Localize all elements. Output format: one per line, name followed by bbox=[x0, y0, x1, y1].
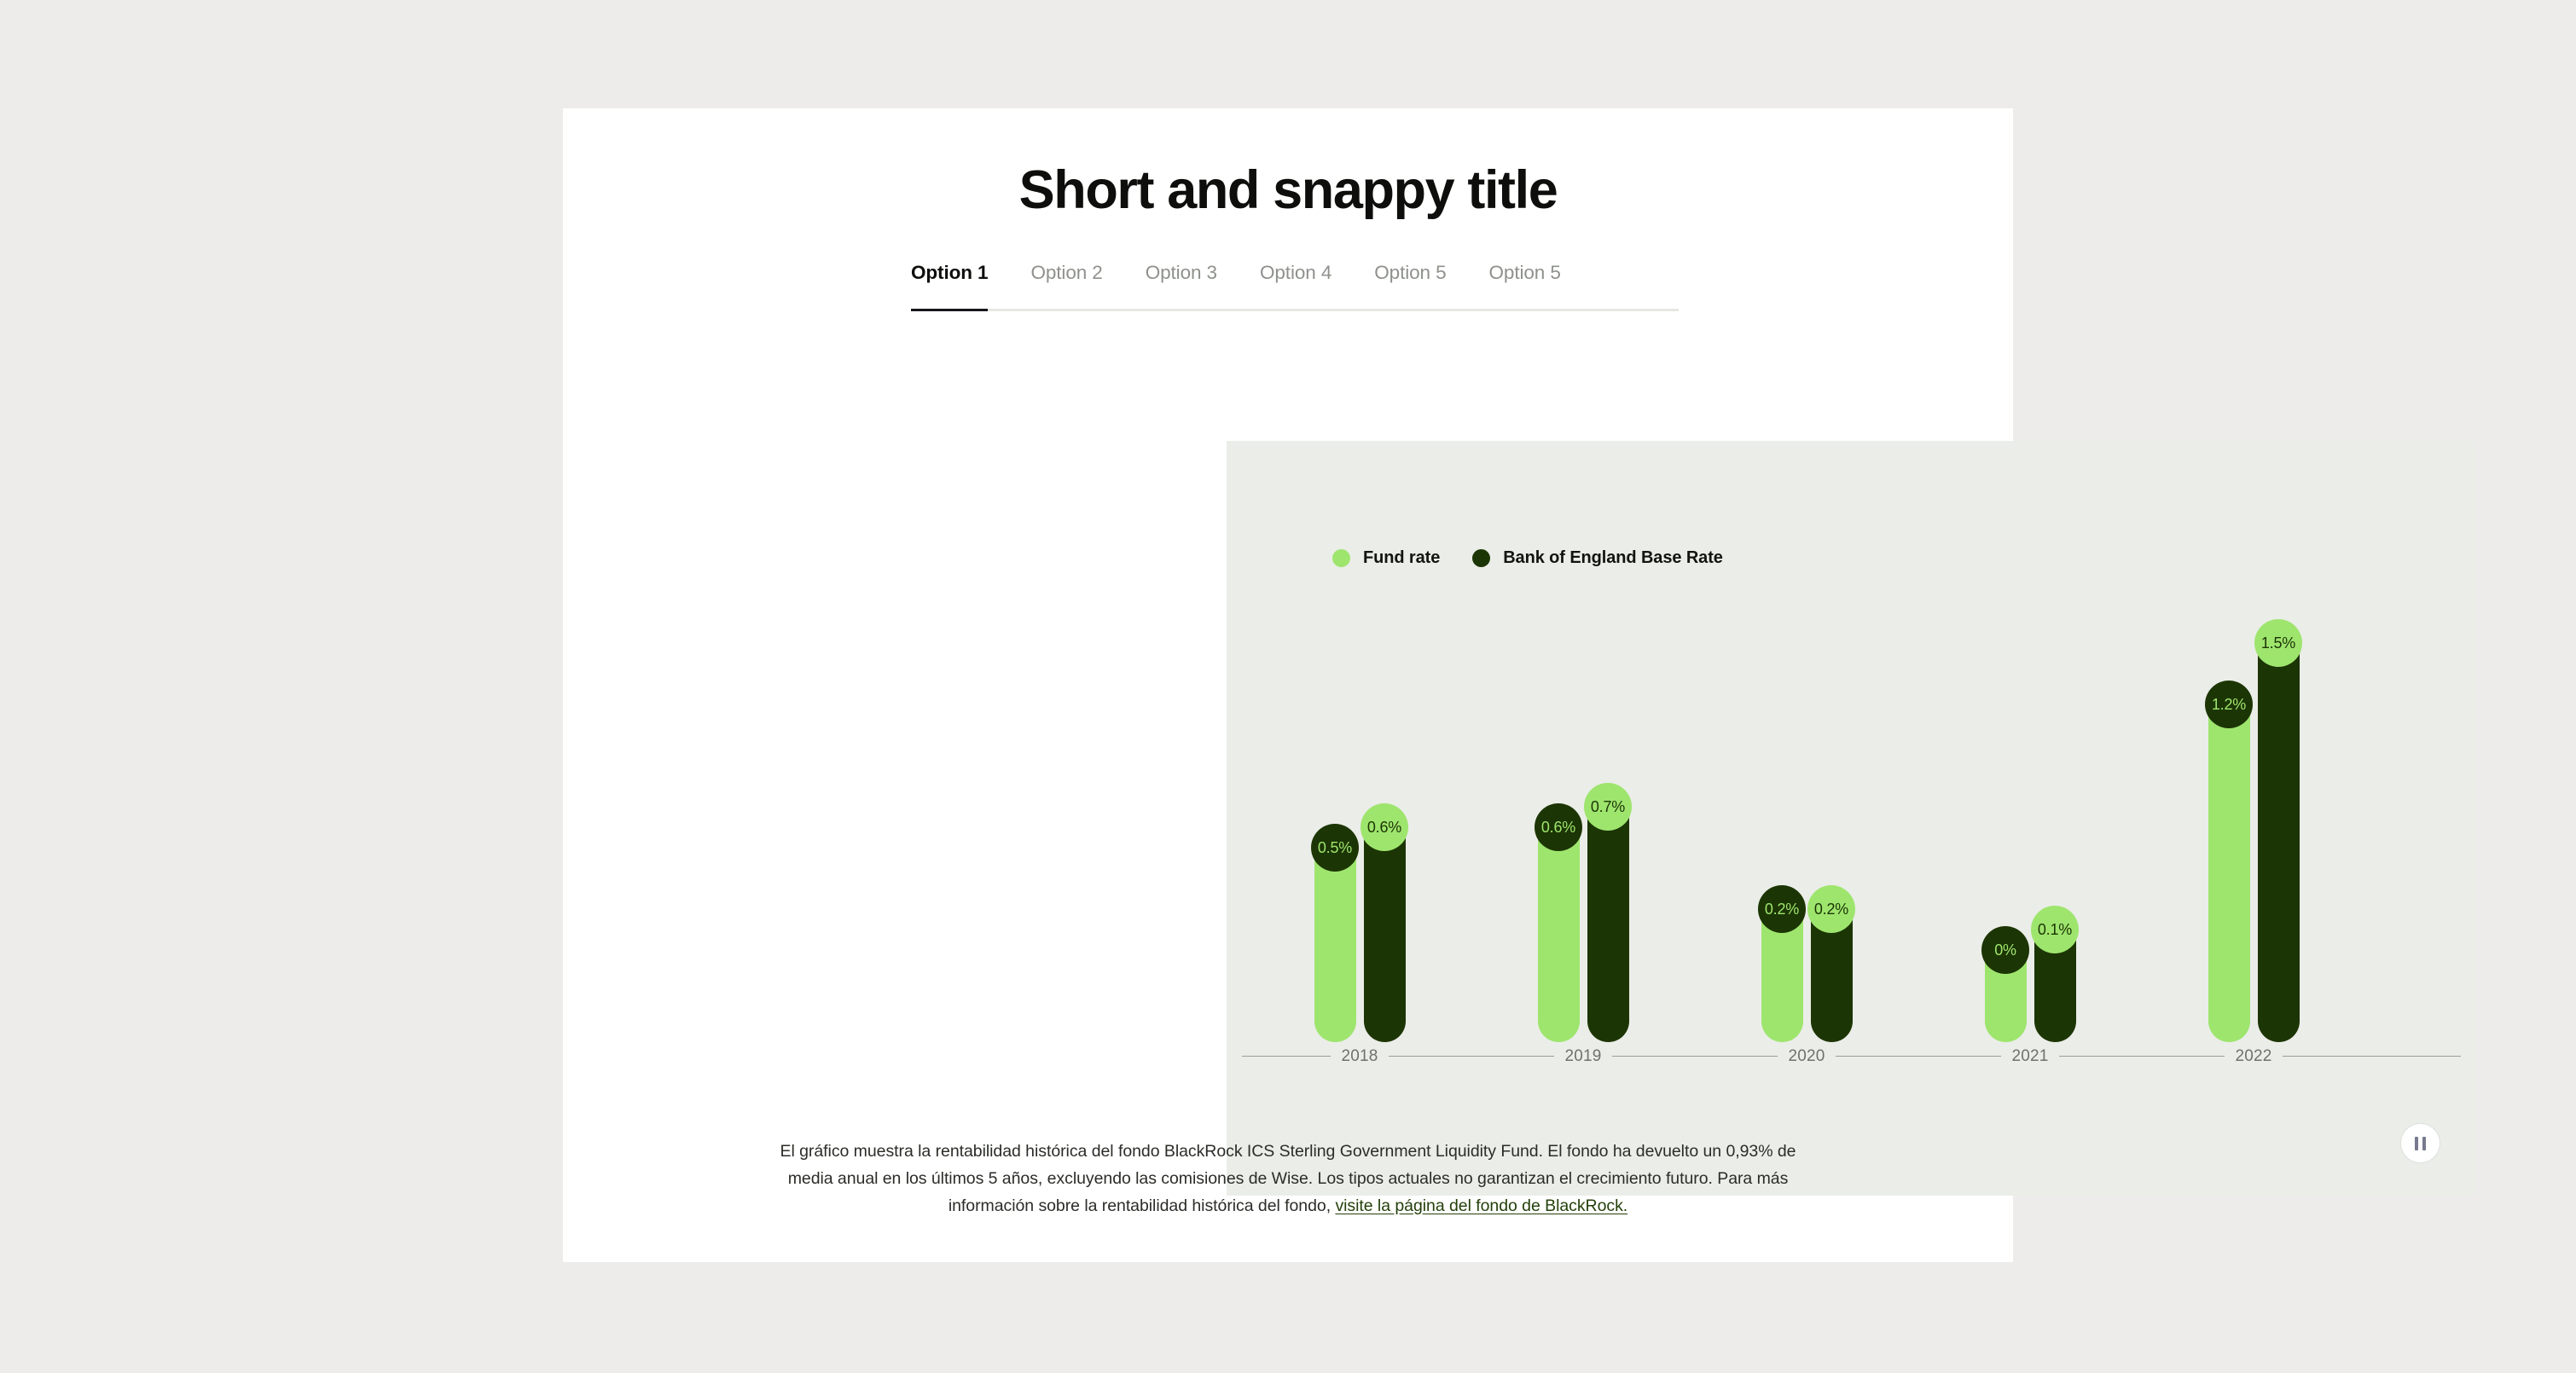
bar-bank-of-england-base-rate-2018[interactable]: 0.6% bbox=[1364, 817, 1406, 1042]
bar-shape: 0.6% bbox=[1538, 817, 1580, 1042]
pause-button[interactable] bbox=[2400, 1123, 2440, 1163]
bar-shape: 0.7% bbox=[1587, 797, 1629, 1042]
blackrock-fund-link[interactable]: visite la página del fondo de BlackRock. bbox=[1335, 1196, 1627, 1215]
bar-shape: 0% bbox=[1985, 940, 2027, 1042]
tab-label: Option 2 bbox=[1030, 262, 1102, 283]
axis-line-segment-5 bbox=[2059, 1056, 2225, 1057]
bar-group-2018: 0.5%0.6% bbox=[1314, 817, 1406, 1042]
tab-bar-rule bbox=[911, 309, 1679, 311]
tab-label: Option 4 bbox=[1260, 262, 1332, 283]
bar-value-bubble: 0.7% bbox=[1584, 783, 1632, 831]
bar-group-2021: 0%0.1% bbox=[1985, 919, 2076, 1042]
axis-line-segment-6 bbox=[2283, 1056, 2461, 1057]
bar-group-2019: 0.6%0.7% bbox=[1538, 797, 1629, 1042]
pause-icon-bar-right bbox=[2422, 1137, 2426, 1150]
tab-label: Option 1 bbox=[911, 262, 988, 283]
bar-bank-of-england-base-rate-2022[interactable]: 1.5% bbox=[2258, 633, 2300, 1042]
bar-fund-rate-2018[interactable]: 0.5% bbox=[1314, 837, 1356, 1042]
tab-6[interactable]: Option 5 bbox=[1489, 262, 1561, 303]
tab-2[interactable]: Option 2 bbox=[1030, 262, 1102, 303]
bar-bank-of-england-base-rate-2019[interactable]: 0.7% bbox=[1587, 797, 1629, 1042]
tab-bar-active-indicator bbox=[911, 309, 988, 311]
bar-bank-of-england-base-rate-2020[interactable]: 0.2% bbox=[1811, 899, 1853, 1042]
axis-label-2021: 2021 bbox=[2011, 1046, 2048, 1067]
axis-line-segment-1 bbox=[1242, 1056, 1331, 1057]
bar-value-bubble: 0% bbox=[1981, 926, 2029, 974]
bar-value-bubble: 0.2% bbox=[1807, 885, 1855, 933]
bar-fund-rate-2021[interactable]: 0% bbox=[1985, 940, 2027, 1042]
bar-fund-rate-2020[interactable]: 0.2% bbox=[1761, 899, 1803, 1042]
pause-icon-bar-left bbox=[2415, 1137, 2418, 1150]
axis-label-2022: 2022 bbox=[2235, 1046, 2271, 1067]
bar-value-bubble: 0.1% bbox=[2031, 906, 2079, 953]
tab-5[interactable]: Option 5 bbox=[1374, 262, 1446, 303]
axis-line-segment-3 bbox=[1612, 1056, 1778, 1057]
tab-label: Option 3 bbox=[1146, 262, 1217, 283]
bar-value-bubble: 0.2% bbox=[1758, 885, 1806, 933]
bar-value-bubble: 0.5% bbox=[1311, 824, 1359, 872]
bar-shape: 0.2% bbox=[1811, 899, 1853, 1042]
axis-label-2019: 2019 bbox=[1564, 1046, 1601, 1067]
bar-shape: 1.2% bbox=[2208, 694, 2250, 1042]
bar-shape: 1.5% bbox=[2258, 633, 2300, 1042]
bar-shape: 0.6% bbox=[1364, 817, 1406, 1042]
bar-bank-of-england-base-rate-2021[interactable]: 0.1% bbox=[2034, 919, 2076, 1042]
chart-caption: El gráfico muestra la rentabilidad histó… bbox=[759, 1138, 1817, 1219]
bar-shape: 0.1% bbox=[2034, 919, 2076, 1042]
page-title: Short and snappy title bbox=[563, 164, 2013, 217]
bar-value-bubble: 1.5% bbox=[2254, 619, 2302, 667]
bar-shape: 0.2% bbox=[1761, 899, 1803, 1042]
caption-text: El gráfico muestra la rentabilidad histó… bbox=[780, 1142, 1796, 1215]
tab-bar: Option 1Option 2Option 3Option 4Option 5… bbox=[911, 262, 1679, 310]
tab-3[interactable]: Option 3 bbox=[1146, 262, 1217, 303]
chart-plot-area: 0.5%0.6%0.6%0.7%0.2%0.2%0%0.1%1.2%1.5% bbox=[1227, 441, 2476, 1196]
bar-value-bubble: 0.6% bbox=[1535, 803, 1582, 851]
tab-label: Option 5 bbox=[1489, 262, 1561, 283]
tab-1[interactable]: Option 1 bbox=[911, 262, 988, 303]
chart-x-axis: 20182019202020212022 bbox=[1227, 1046, 2476, 1068]
bar-group-2020: 0.2%0.2% bbox=[1761, 899, 1853, 1042]
bar-value-bubble: 1.2% bbox=[2205, 681, 2253, 728]
axis-line-segment-2 bbox=[1389, 1056, 1554, 1057]
tab-label: Option 5 bbox=[1374, 262, 1446, 283]
bar-group-2022: 1.2%1.5% bbox=[2208, 633, 2300, 1042]
bar-fund-rate-2022[interactable]: 1.2% bbox=[2208, 694, 2250, 1042]
axis-line-segment-4 bbox=[1836, 1056, 2001, 1057]
page-root: Short and snappy title Option 1Option 2O… bbox=[0, 0, 2576, 1373]
axis-label-2018: 2018 bbox=[1341, 1046, 1378, 1067]
tab-4[interactable]: Option 4 bbox=[1260, 262, 1332, 303]
bar-fund-rate-2019[interactable]: 0.6% bbox=[1538, 817, 1580, 1042]
bar-value-bubble: 0.6% bbox=[1361, 803, 1408, 851]
content-card: Short and snappy title Option 1Option 2O… bbox=[563, 108, 2013, 1262]
axis-label-2020: 2020 bbox=[1788, 1046, 1825, 1067]
bar-shape: 0.5% bbox=[1314, 837, 1356, 1042]
chart-panel: Fund rateBank of England Base Rate 0.5%0… bbox=[1227, 441, 2476, 1196]
